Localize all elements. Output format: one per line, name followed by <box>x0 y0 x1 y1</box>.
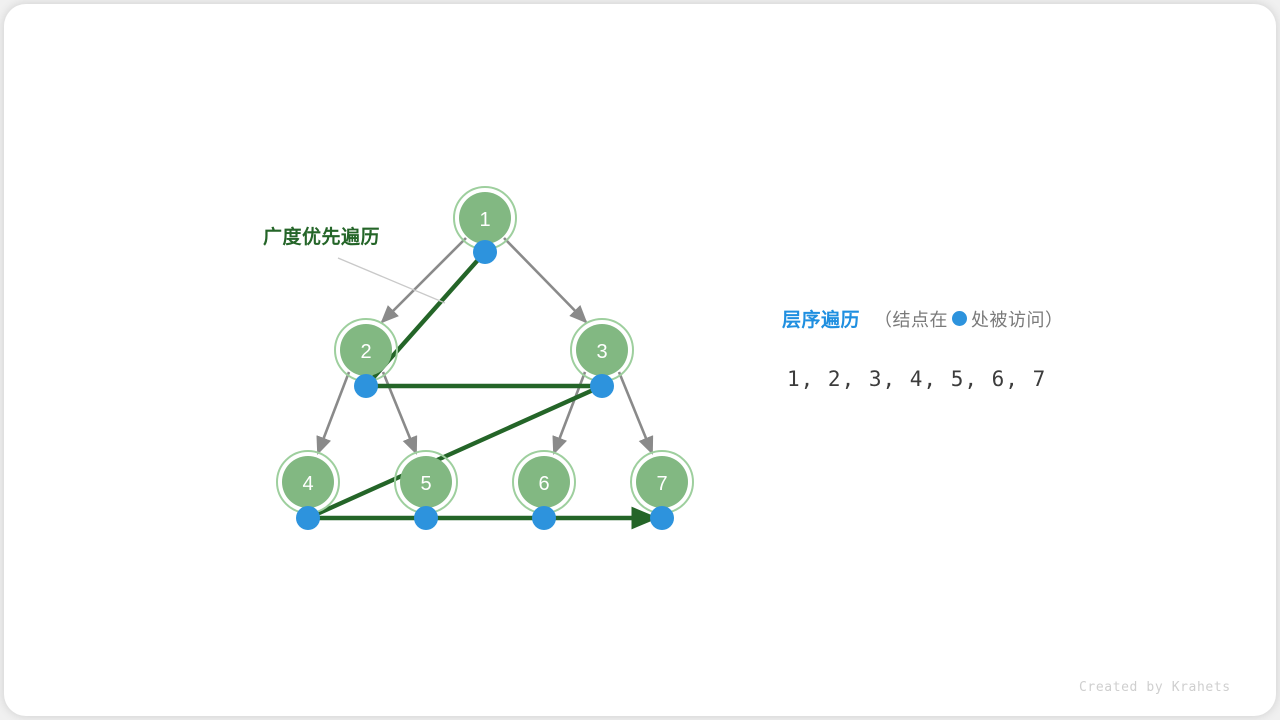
node-label: 3 <box>596 341 607 363</box>
annotation-leader-line <box>338 258 445 303</box>
visit-dot[interactable] <box>473 240 497 264</box>
legend: 层序遍历 （结点在 处被访问） <box>782 305 1064 332</box>
tree-node-1[interactable]: 1 <box>454 187 516 264</box>
node-label: 1 <box>479 209 490 231</box>
visit-dot-icon <box>952 311 967 326</box>
legend-title: 层序遍历 <box>782 305 860 332</box>
node-label: 6 <box>538 473 549 495</box>
legend-note-prefix: （结点在 <box>874 306 948 332</box>
visit-dot[interactable] <box>354 374 378 398</box>
traversal-sequence: 1, 2, 3, 4, 5, 6, 7 <box>787 367 1046 391</box>
visit-dot[interactable] <box>532 506 556 530</box>
node-label: 7 <box>656 473 667 495</box>
visit-dot[interactable] <box>296 506 320 530</box>
tree-edge-2-4 <box>318 372 349 453</box>
visit-dot[interactable] <box>590 374 614 398</box>
visit-dot[interactable] <box>414 506 438 530</box>
legend-note: （结点在 处被访问） <box>874 306 1064 332</box>
tree-edge-1-3 <box>504 238 586 322</box>
node-label: 2 <box>360 341 371 363</box>
tree-edge-1-2 <box>382 238 466 322</box>
node-label: 4 <box>302 473 313 495</box>
visit-dot[interactable] <box>650 506 674 530</box>
node-label: 5 <box>420 473 431 495</box>
tree-edge-3-7 <box>619 372 652 453</box>
binary-tree-figure: 1 2 3 4 <box>4 4 1276 716</box>
content-card: 1 2 3 4 <box>4 4 1276 716</box>
page-canvas: 1 2 3 4 <box>0 0 1280 720</box>
legend-note-suffix: 处被访问） <box>971 306 1064 332</box>
bfs-annotation-label: 广度优先遍历 <box>263 222 380 249</box>
credit-text: Created by Krahets <box>1079 680 1231 695</box>
